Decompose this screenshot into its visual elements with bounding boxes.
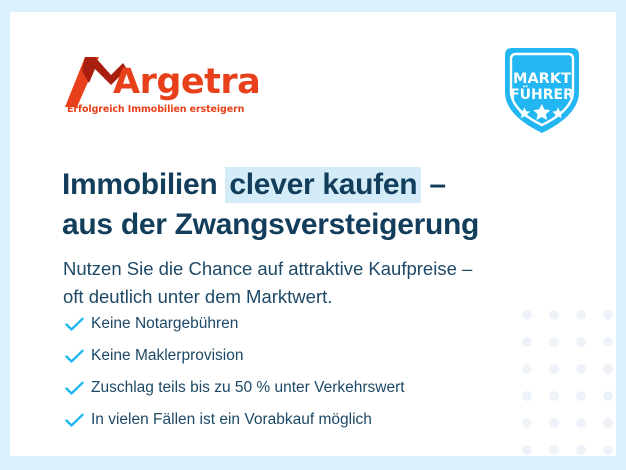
argetra-logo[interactable]: Argetra Erfolgreich Immobilien ersteiger… xyxy=(65,57,265,122)
check-icon xyxy=(65,381,91,396)
dot xyxy=(576,310,586,320)
dot xyxy=(603,445,613,455)
dot xyxy=(549,337,559,347)
dot xyxy=(576,337,586,347)
promo-banner: Argetra Erfolgreich Immobilien ersteiger… xyxy=(0,0,626,470)
headline-highlight: clever kaufen xyxy=(225,167,421,203)
badge-line2: FÜHRER xyxy=(510,85,574,103)
list-item: Keine Notargebühren xyxy=(65,309,535,339)
subheading-line1: Nutzen Sie die Chance auf attraktive Kau… xyxy=(63,255,533,283)
headline: Immobilien clever kaufen – aus der Zwang… xyxy=(62,165,542,245)
dot xyxy=(549,418,559,428)
dot xyxy=(549,391,559,401)
list-item: In vielen Fällen ist ein Vorabkauf mögli… xyxy=(65,405,535,435)
logo-wordmark: Argetra xyxy=(113,65,260,100)
dot xyxy=(603,391,613,401)
subheading: Nutzen Sie die Chance auf attraktive Kau… xyxy=(63,255,533,311)
market-leader-badge: MARKT FÜHRER xyxy=(499,45,585,137)
dot xyxy=(549,310,559,320)
dot xyxy=(549,364,559,374)
feature-label: Keine Maklerprovision xyxy=(91,347,244,366)
dot xyxy=(549,445,559,455)
feature-label: Zuschlag teils bis zu 50 % unter Verkehr… xyxy=(91,379,405,398)
list-item: Zuschlag teils bis zu 50 % unter Verkehr… xyxy=(65,373,535,403)
dot xyxy=(576,418,586,428)
check-icon xyxy=(65,317,91,332)
feature-list: Keine Notargebühren Keine Maklerprovisio… xyxy=(65,309,535,437)
feature-label: Keine Notargebühren xyxy=(91,315,238,334)
subheading-line2: oft deutlich unter dem Marktwert. xyxy=(63,283,533,311)
dot xyxy=(522,445,532,455)
headline-line2: aus der Zwangsversteigerung xyxy=(62,205,542,245)
dot xyxy=(603,364,613,374)
feature-label: In vielen Fällen ist ein Vorabkauf mögli… xyxy=(91,411,372,430)
headline-prefix: Immobilien xyxy=(62,168,225,201)
list-item: Keine Maklerprovision xyxy=(65,341,535,371)
check-icon xyxy=(65,413,91,428)
headline-suffix: – xyxy=(421,168,445,201)
dot xyxy=(576,391,586,401)
banner-card: Argetra Erfolgreich Immobilien ersteiger… xyxy=(10,12,616,456)
dot xyxy=(576,445,586,455)
logo-tagline: Erfolgreich Immobilien ersteigern xyxy=(67,104,244,115)
dot xyxy=(603,337,613,347)
badge-line1: MARKT xyxy=(513,71,571,87)
check-icon xyxy=(65,349,91,364)
dot xyxy=(603,310,613,320)
dot xyxy=(576,364,586,374)
dot xyxy=(603,418,613,428)
dot-grid-decoration xyxy=(522,310,616,456)
